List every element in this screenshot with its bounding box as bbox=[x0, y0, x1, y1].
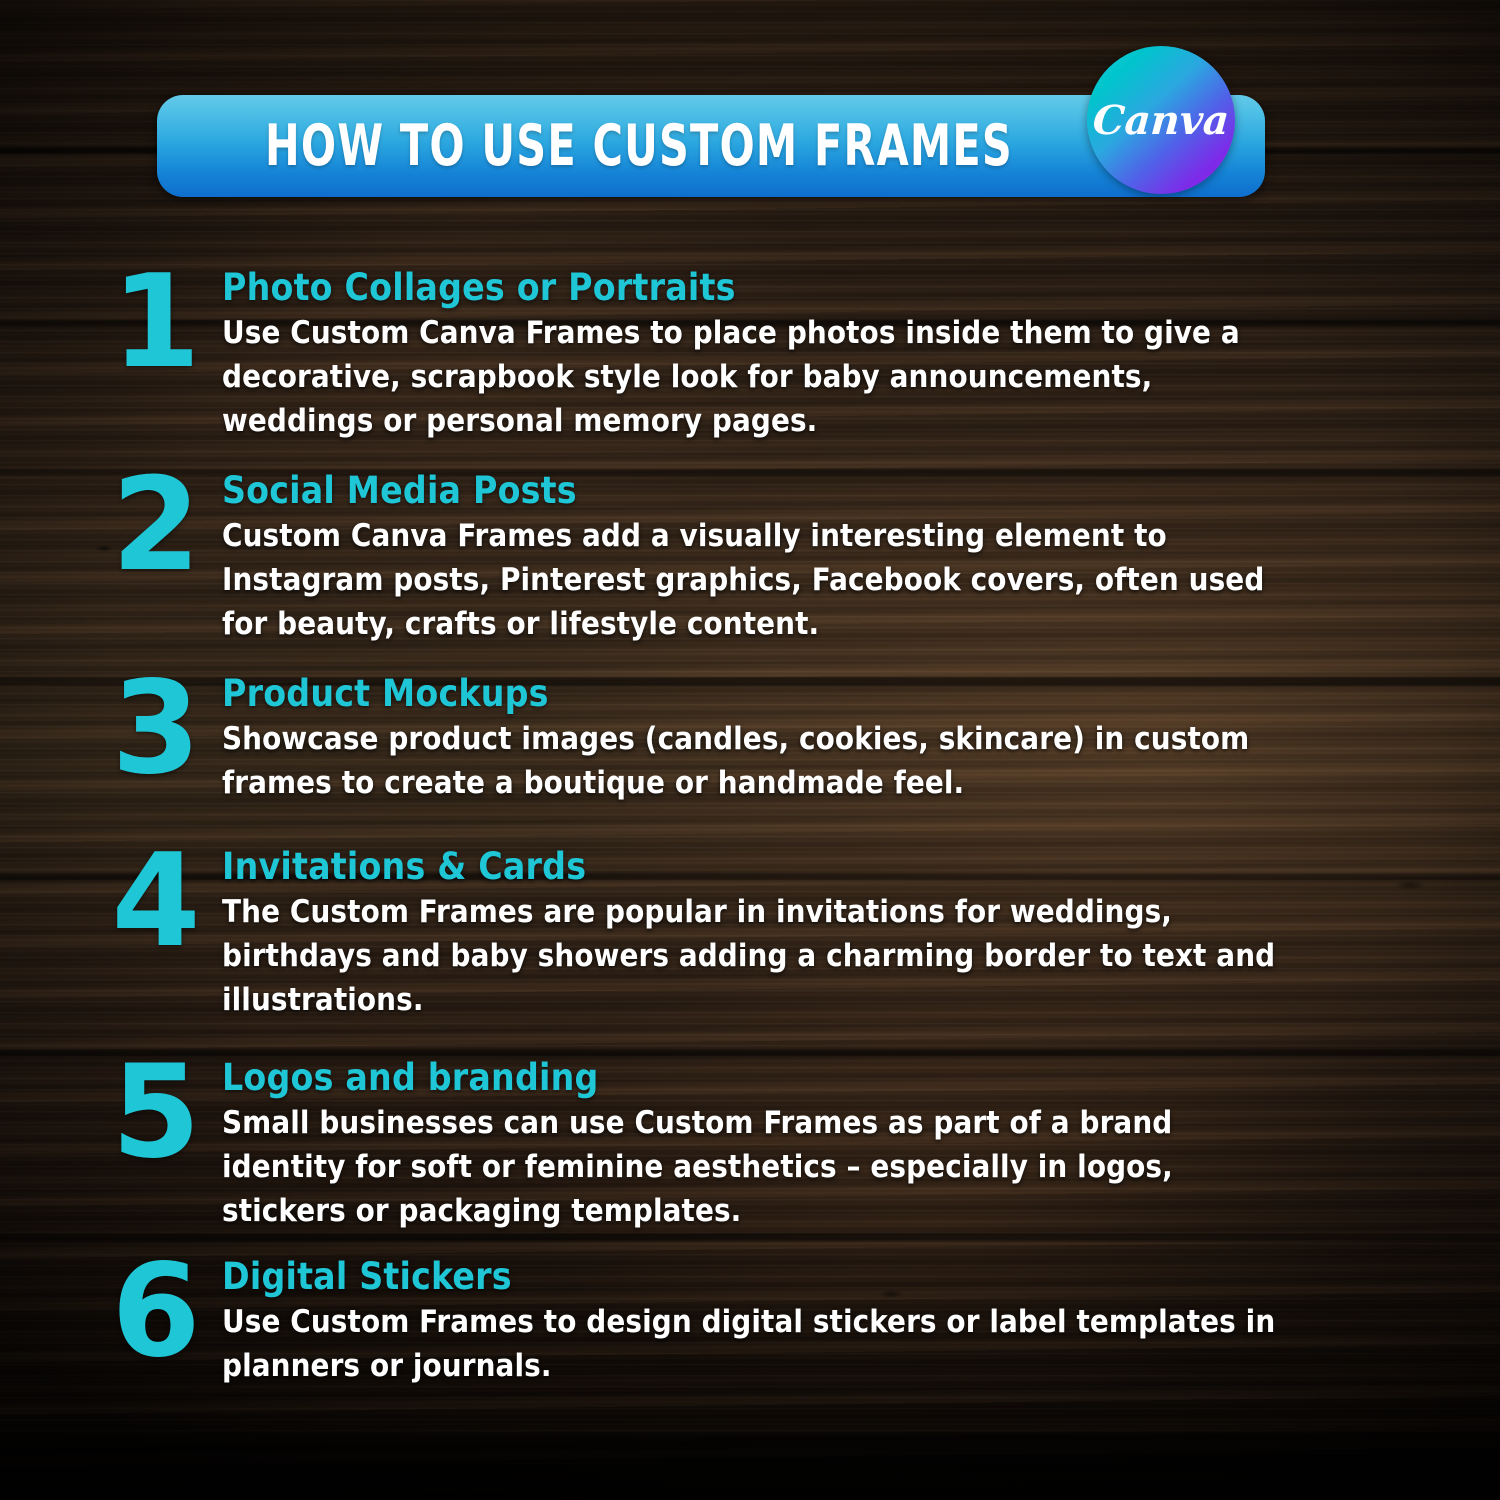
item-heading: Photo Collages or Portraits bbox=[222, 268, 1500, 308]
item-heading: Digital Stickers bbox=[222, 1257, 1500, 1297]
item-body: Photo Collages or Portraits Use Custom C… bbox=[212, 262, 1500, 443]
item-description: Use Custom Frames to design digital stic… bbox=[222, 1300, 1282, 1388]
list-item: 3 Product Mockups Showcase product image… bbox=[0, 668, 1500, 805]
canva-wordmark: Canva bbox=[1091, 97, 1230, 144]
item-heading: Product Mockups bbox=[222, 674, 1500, 714]
list-item: 1 Photo Collages or Portraits Use Custom… bbox=[0, 262, 1500, 443]
item-number: 6 bbox=[100, 1257, 212, 1367]
item-body: Logos and branding Small businesses can … bbox=[212, 1052, 1500, 1233]
item-number: 2 bbox=[100, 471, 212, 581]
item-description: Custom Canva Frames add a visually inter… bbox=[222, 514, 1282, 646]
item-number: 5 bbox=[100, 1058, 212, 1168]
item-number: 1 bbox=[100, 268, 212, 378]
page-title: HOW TO USE CUSTOM FRAMES bbox=[265, 113, 1013, 179]
list-item: 2 Social Media Posts Custom Canva Frames… bbox=[0, 465, 1500, 646]
item-body: Invitations & Cards The Custom Frames ar… bbox=[212, 841, 1500, 1022]
list-item: 5 Logos and branding Small businesses ca… bbox=[0, 1052, 1500, 1233]
item-number: 4 bbox=[100, 847, 212, 957]
canva-logo: Canva bbox=[1087, 46, 1235, 194]
item-description: Small businesses can use Custom Frames a… bbox=[222, 1101, 1282, 1233]
item-heading: Logos and branding bbox=[222, 1058, 1500, 1098]
item-description: Use Custom Canva Frames to place photos … bbox=[222, 311, 1282, 443]
item-heading: Invitations & Cards bbox=[222, 847, 1500, 887]
tips-list: 1 Photo Collages or Portraits Use Custom… bbox=[0, 262, 1500, 1388]
item-description: Showcase product images (candles, cookie… bbox=[222, 717, 1282, 805]
item-number: 3 bbox=[100, 674, 212, 784]
item-body: Social Media Posts Custom Canva Frames a… bbox=[212, 465, 1500, 646]
list-item: 4 Invitations & Cards The Custom Frames … bbox=[0, 841, 1500, 1022]
list-item: 6 Digital Stickers Use Custom Frames to … bbox=[0, 1251, 1500, 1388]
item-description: The Custom Frames are popular in invitat… bbox=[222, 890, 1282, 1022]
item-body: Digital Stickers Use Custom Frames to de… bbox=[212, 1251, 1500, 1388]
item-heading: Social Media Posts bbox=[222, 471, 1500, 511]
item-body: Product Mockups Showcase product images … bbox=[212, 668, 1500, 805]
